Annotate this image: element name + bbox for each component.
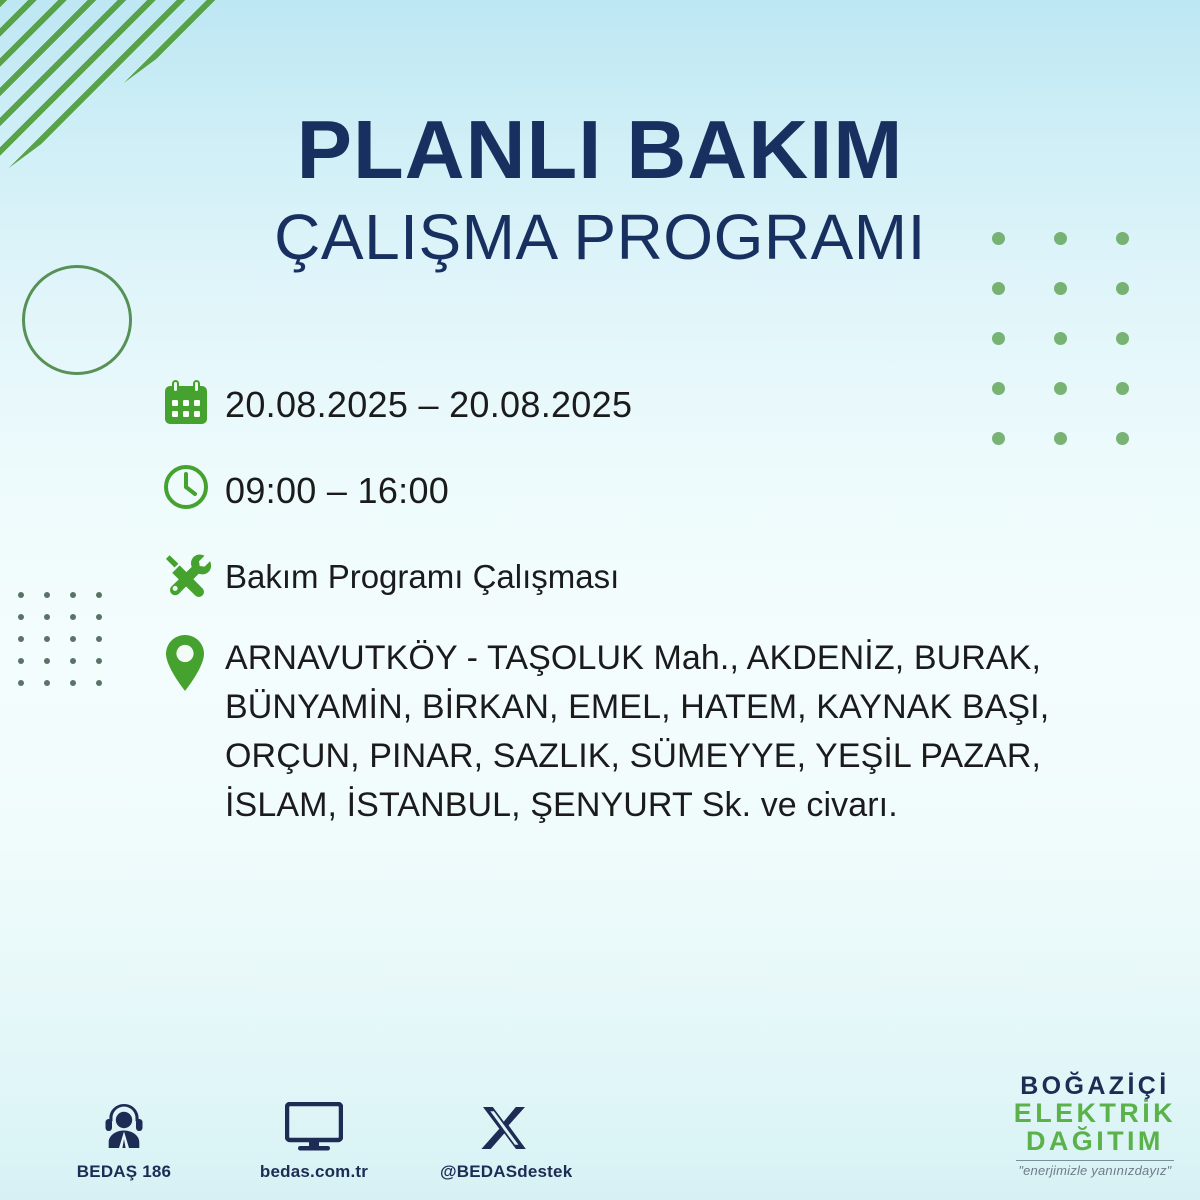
details-list: 20.08.2025 – 20.08.2025 09:00 – 16:00 — [163, 376, 1163, 857]
title-primary: PLANLI BAKIM — [0, 108, 1200, 191]
bedas-logo: BOĞAZİÇİ ELEKTRİK DAĞITIM "enerjimizle y… — [1014, 1073, 1176, 1178]
work-type-text: Bakım Programı Çalışması — [225, 550, 619, 602]
detail-row-location: ARNAVUTKÖY - TAŞOLUK Mah., AKDENİZ, BURA… — [163, 632, 1163, 831]
date-range-text: 20.08.2025 – 20.08.2025 — [225, 376, 632, 432]
time-range-text: 09:00 – 16:00 — [225, 462, 449, 518]
contact-x-social[interactable]: @BEDASdestek — [440, 1098, 568, 1182]
logo-divider — [1016, 1160, 1174, 1161]
call-center-agent-icon — [60, 1098, 188, 1152]
detail-row-work-type: Bakım Programı Çalışması — [163, 550, 1163, 602]
title-secondary: ÇALIŞMA PROGRAMI — [0, 205, 1200, 269]
map-pin-icon — [163, 632, 225, 692]
contact-website[interactable]: bedas.com.tr — [250, 1098, 378, 1182]
footer-contacts: BEDAŞ 186 bedas.com.tr @BEDASdestek — [60, 1098, 568, 1182]
contact-website-label: bedas.com.tr — [250, 1162, 378, 1182]
clock-icon — [163, 462, 225, 510]
page-title: PLANLI BAKIM ÇALIŞMA PROGRAMI — [0, 108, 1200, 269]
logo-line-bogazici: BOĞAZİÇİ — [1014, 1073, 1176, 1099]
logo-tagline: "enerjimizle yanınızdayız" — [1014, 1164, 1176, 1178]
logo-line-elektrik: ELEKTRİK — [1014, 1099, 1176, 1127]
poster-canvas: PLANLI BAKIM ÇALIŞMA PROGRAMI — [0, 0, 1200, 1200]
detail-row-date: 20.08.2025 – 20.08.2025 — [163, 376, 1163, 432]
dot-grid-left-decoration — [18, 592, 122, 702]
logo-line-dagitim: DAĞITIM — [1014, 1127, 1176, 1155]
monitor-icon — [250, 1098, 378, 1152]
contact-phone[interactable]: BEDAŞ 186 — [60, 1098, 188, 1182]
circle-outline-decoration — [22, 265, 132, 375]
location-text: ARNAVUTKÖY - TAŞOLUK Mah., AKDENİZ, BURA… — [225, 632, 1125, 831]
x-social-icon — [440, 1098, 568, 1152]
calendar-icon — [163, 376, 225, 426]
contact-x-label: @BEDASdestek — [440, 1162, 568, 1182]
tools-icon — [163, 550, 225, 598]
contact-phone-label: BEDAŞ 186 — [60, 1162, 188, 1182]
detail-row-time: 09:00 – 16:00 — [163, 462, 1163, 518]
